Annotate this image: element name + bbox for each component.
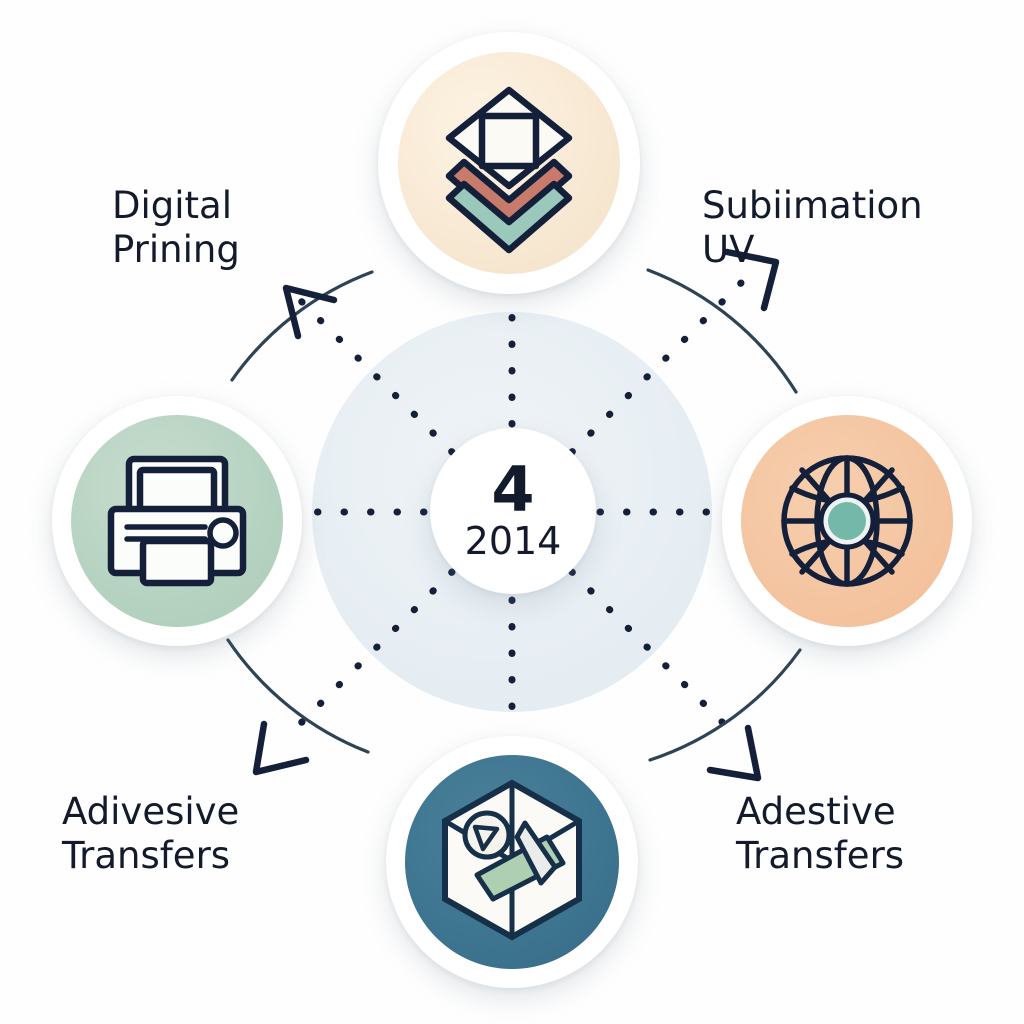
printer-icon <box>93 437 261 605</box>
label-sublimation-uv: Subiimation UV <box>702 184 923 271</box>
hub-year: 2014 <box>465 522 562 562</box>
arrow-down-right <box>710 728 758 778</box>
node-digital-global[interactable] <box>722 396 972 646</box>
arc-top-to-right <box>648 270 796 392</box>
label-adhesive-transfers-left: Adivesive Transfers <box>62 790 239 877</box>
globe-grid-icon <box>762 436 932 606</box>
arc-right-to-bottom <box>650 650 800 760</box>
node-digital-printing[interactable] <box>52 396 302 646</box>
layered-diamond-icon <box>414 68 604 258</box>
node-sublimation-uv[interactable] <box>378 32 640 294</box>
arc-left-to-top <box>232 272 372 380</box>
label-adhesive-transfers-right: Adestive Transfers <box>736 790 904 877</box>
node-top-disc <box>398 52 620 274</box>
node-left-disc <box>71 415 283 627</box>
arc-bottom-to-left <box>228 640 368 752</box>
label-digital-printing: Digital Prining <box>112 184 240 271</box>
node-right-disc <box>741 415 953 627</box>
hub-number: 4 <box>491 461 534 520</box>
node-bottom-disc <box>405 755 619 969</box>
center-hub[interactable]: 4 2014 <box>430 428 596 594</box>
arrow-down-left <box>256 724 306 772</box>
arrow-up-left <box>286 288 334 336</box>
diagram-canvas: 4 2014 Digital Prining Subiimation UV Ad… <box>0 0 1024 1024</box>
hexagon-tape-transfer-icon <box>421 771 603 953</box>
node-adhesive-transfers[interactable] <box>386 736 638 988</box>
